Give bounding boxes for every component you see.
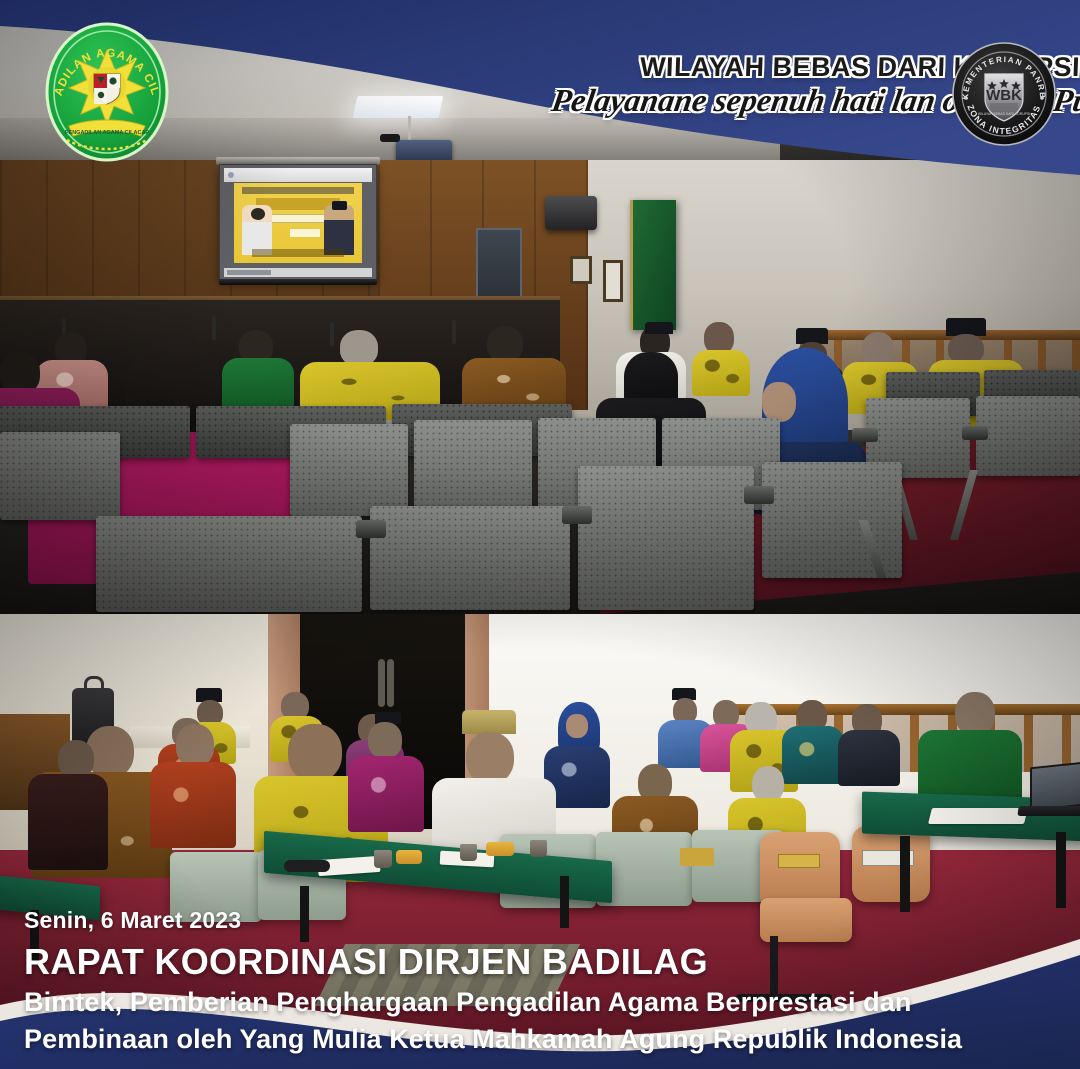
kopiah-hat bbox=[462, 710, 516, 734]
slide-header-bar bbox=[242, 187, 354, 194]
laptop-base bbox=[1017, 806, 1080, 816]
tea-cup bbox=[460, 844, 477, 861]
logo-ribbon-text: PENGADILAN AGAMA CILACAP bbox=[65, 130, 150, 136]
tea-cup bbox=[530, 840, 547, 857]
seat-armrest bbox=[852, 428, 878, 442]
laptop-screen bbox=[1030, 761, 1080, 812]
badge-shield-subtext: WILAYAH BEBAS DARI KORUPSI bbox=[978, 112, 1030, 116]
seat-armrest bbox=[744, 486, 774, 504]
wall-frame-2 bbox=[603, 260, 623, 302]
slide-button-block bbox=[290, 229, 320, 237]
chair-label bbox=[778, 854, 820, 868]
slide-person-right bbox=[324, 205, 354, 255]
table-leg bbox=[1056, 832, 1066, 908]
footer-caption-block: Senin, 6 Maret 2023 RAPAT KOORDINASI DIR… bbox=[0, 899, 1080, 1069]
bench-seat bbox=[976, 396, 1080, 476]
urn-handle bbox=[84, 676, 104, 690]
pengadilan-agama-cilacap-logo: PENGADILAN AGAMA CILACAP PENGADILAN AGAM… bbox=[43, 22, 171, 162]
slide-body bbox=[234, 183, 362, 263]
seat-armrest bbox=[962, 426, 988, 440]
bench-seat bbox=[370, 506, 570, 610]
tea-cup bbox=[374, 850, 392, 868]
bench-mic-2 bbox=[212, 316, 216, 340]
bench-mic-3 bbox=[330, 322, 334, 346]
ceiling-light bbox=[353, 96, 444, 118]
bench-seat bbox=[96, 516, 362, 612]
bench-seat bbox=[578, 466, 754, 610]
bench-mic-4 bbox=[452, 320, 456, 344]
tagline-line-1: WILAYAH BEBAS DARI KORUPSI bbox=[639, 52, 970, 83]
slide-person-left bbox=[242, 205, 272, 255]
wall-frame-1 bbox=[570, 256, 592, 284]
slide-browser-bar bbox=[224, 168, 372, 182]
projection-screen bbox=[219, 164, 377, 280]
event-title: RAPAT KOORDINASI DIRJEN BADILAG bbox=[24, 941, 708, 983]
chair-emblem bbox=[680, 848, 714, 866]
event-date: Senin, 6 Maret 2023 bbox=[24, 907, 241, 934]
seat-armrest bbox=[562, 506, 592, 524]
green-flag bbox=[630, 200, 676, 330]
phone bbox=[284, 860, 330, 872]
slide-taskbar bbox=[224, 268, 372, 277]
document bbox=[928, 808, 1028, 824]
event-subtitle-line-1: Bimtek, Pemberian Penghargaan Pengadilan… bbox=[24, 987, 911, 1018]
wall-speaker bbox=[545, 196, 597, 230]
screen-bottom-bar bbox=[219, 279, 377, 285]
poster-canvas: PENGADILAN AGAMA CILACAP PENGADILAN AGAM… bbox=[0, 0, 1080, 1069]
bench-seat bbox=[0, 432, 120, 520]
seat-armrest bbox=[356, 520, 386, 538]
snack bbox=[486, 842, 514, 856]
tagline-line-2: Pelayanane sepenuh hati lan ora ana Pung… bbox=[549, 82, 975, 119]
badge-shield-text: WBK bbox=[986, 87, 1022, 104]
event-subtitle-line-2: Pembinaan oleh Yang Mulia Ketua Mahkamah… bbox=[24, 1024, 962, 1055]
bench-seat bbox=[290, 424, 408, 516]
wbk-zona-integritas-badge: WBK WILAYAH BEBAS DARI KORUPSI KEMENTERI… bbox=[952, 42, 1056, 146]
bench-seat bbox=[414, 420, 532, 512]
snack bbox=[396, 850, 422, 864]
slide-footer-strip bbox=[252, 249, 344, 257]
